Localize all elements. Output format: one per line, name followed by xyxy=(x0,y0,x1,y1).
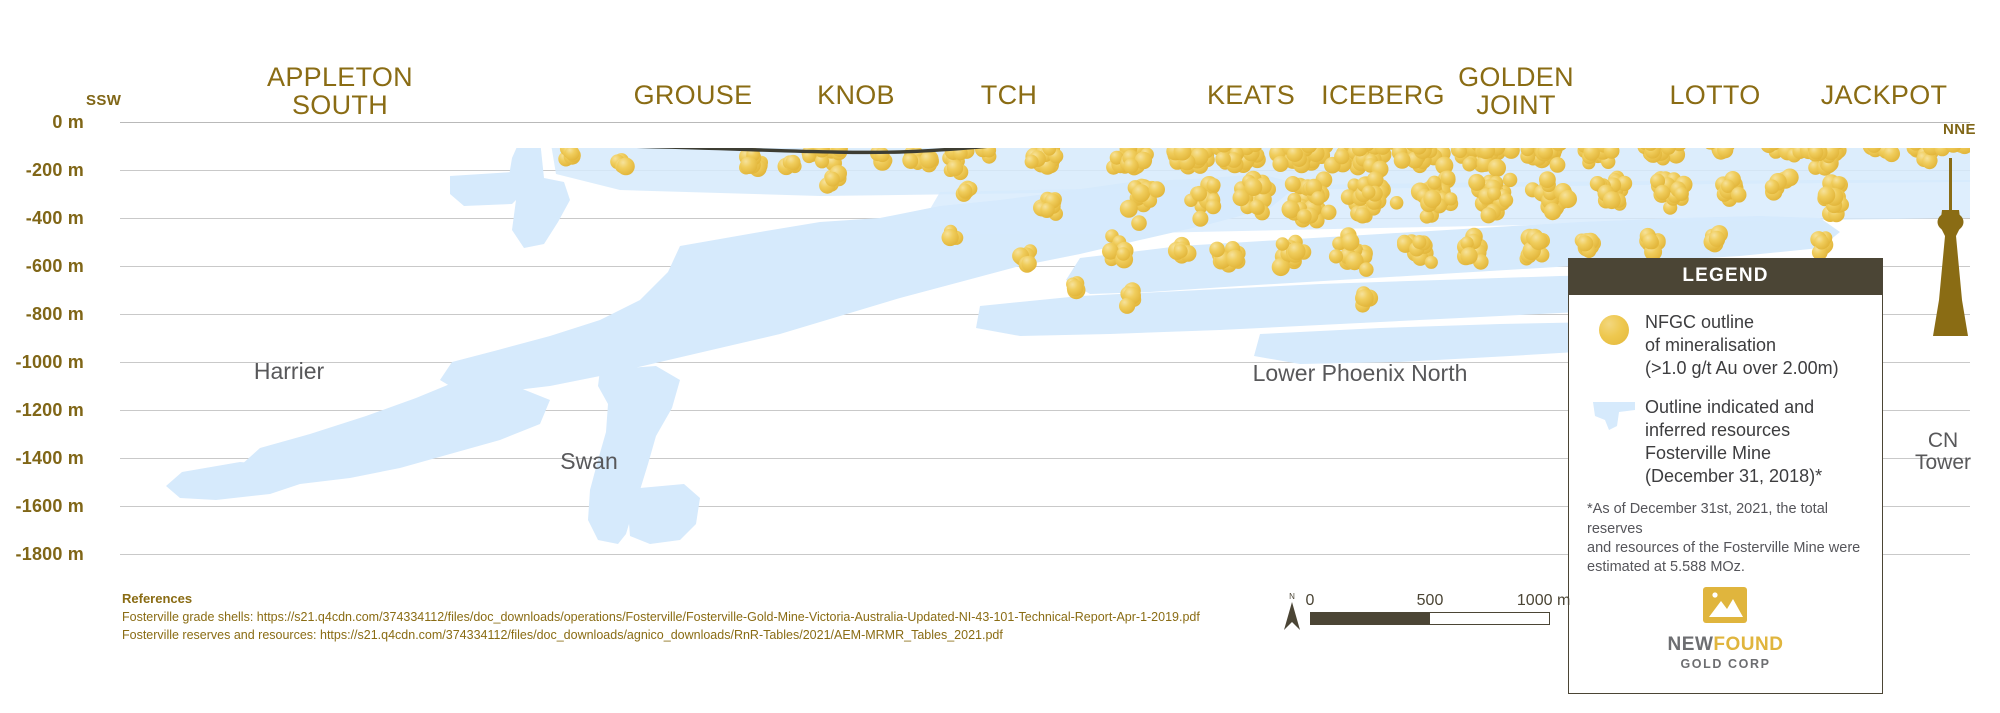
deposit-label: KEATS xyxy=(1207,82,1295,110)
logo-wordmark: NEWFOUND xyxy=(1668,634,1784,656)
zone-label: Harrier xyxy=(254,358,324,385)
gridline xyxy=(120,122,1970,123)
scale-bar-tick-label: 1000 m xyxy=(1517,592,1570,610)
scale-bar-tick-labels: 05001000 m xyxy=(1310,592,1550,612)
depth-axis-label: -200 m xyxy=(0,160,84,181)
cn-tower-label: CN Tower xyxy=(1915,430,1971,474)
depth-axis-label: -1800 m xyxy=(0,544,84,565)
legend-swatch-gold-dot xyxy=(1583,311,1645,345)
legend-swatch-blue-shell xyxy=(1583,396,1645,434)
zone-label: Swan xyxy=(560,448,618,475)
legend-body: NFGC outline of mineralisation (>1.0 g/t… xyxy=(1569,295,1882,693)
depth-axis-label: -400 m xyxy=(0,208,84,229)
deposit-label: GOLDEN JOINT xyxy=(1458,64,1574,120)
north-arrow-icon: N xyxy=(1278,588,1306,634)
depth-axis-label: -1600 m xyxy=(0,496,84,517)
scale-bar-tick-label: 0 xyxy=(1306,592,1315,610)
cross-section-figure: SSW NNE APPLETON SOUTHGROUSEKNOBTCHKEATS… xyxy=(0,0,2000,713)
logo-word-found: FOUND xyxy=(1713,634,1783,655)
gold-dot-icon xyxy=(1599,315,1629,345)
logo-word-new: NEW xyxy=(1668,634,1714,655)
reference-line: Fosterville grade shells: https://s21.q4… xyxy=(122,608,1200,626)
legend-item-resource-outline-label: Outline indicated and inferred resources… xyxy=(1645,396,1822,488)
legend-panel: LEGEND NFGC outline of mineralisation (>… xyxy=(1568,258,1883,694)
mountain-logo-icon xyxy=(1699,587,1751,627)
deposit-label: KNOB xyxy=(817,82,895,110)
direction-label-nne: NNE xyxy=(1943,121,1976,138)
scale-bar-tick-label: 500 xyxy=(1417,592,1444,610)
deposit-label: JACKPOT xyxy=(1821,82,1948,110)
deposit-label: GROUSE xyxy=(634,82,753,110)
depth-axis-label: -600 m xyxy=(0,256,84,277)
deposit-label: ICEBERG xyxy=(1321,82,1445,110)
reference-line: Fosterville reserves and resources: http… xyxy=(122,626,1200,644)
references-title: References xyxy=(122,591,1200,606)
depth-axis-label: -800 m xyxy=(0,304,84,325)
legend-title: LEGEND xyxy=(1568,258,1883,295)
legend-item-resource-outline: Outline indicated and inferred resources… xyxy=(1583,396,1868,488)
legend-item-mineralisation: NFGC outline of mineralisation (>1.0 g/t… xyxy=(1583,311,1868,380)
depth-axis-label: -1400 m xyxy=(0,448,84,469)
legend-item-mineralisation-label: NFGC outline of mineralisation (>1.0 g/t… xyxy=(1645,311,1839,380)
company-logo: NEWFOUND GOLD CORP xyxy=(1583,581,1868,683)
depth-axis-label: -1200 m xyxy=(0,400,84,421)
depth-axis-label: 0 m xyxy=(0,112,84,133)
logo-subtitle: GOLD CORP xyxy=(1668,657,1784,671)
cn-tower-icon xyxy=(1892,150,2000,370)
references-block: References Fosterville grade shells: htt… xyxy=(122,591,1200,644)
legend-footnote: *As of December 31st, 2021, the total re… xyxy=(1583,500,1868,581)
scale-bar-segment-empty xyxy=(1430,613,1549,624)
scale-bar: N 05001000 m xyxy=(1278,592,1550,625)
north-arrow-letter: N xyxy=(1289,592,1295,601)
deposit-label: TCH xyxy=(981,82,1037,110)
direction-label-ssw: SSW xyxy=(86,92,121,109)
zone-label: Lower Phoenix North xyxy=(1253,360,1468,387)
depth-axis-label: -1000 m xyxy=(0,352,84,373)
deposit-label: APPLETON SOUTH xyxy=(267,64,413,120)
resource-shell-icon xyxy=(1591,400,1637,434)
deposit-label: LOTTO xyxy=(1669,82,1760,110)
scale-bar-graphic xyxy=(1310,612,1550,625)
scale-bar-segment-filled xyxy=(1311,613,1430,624)
